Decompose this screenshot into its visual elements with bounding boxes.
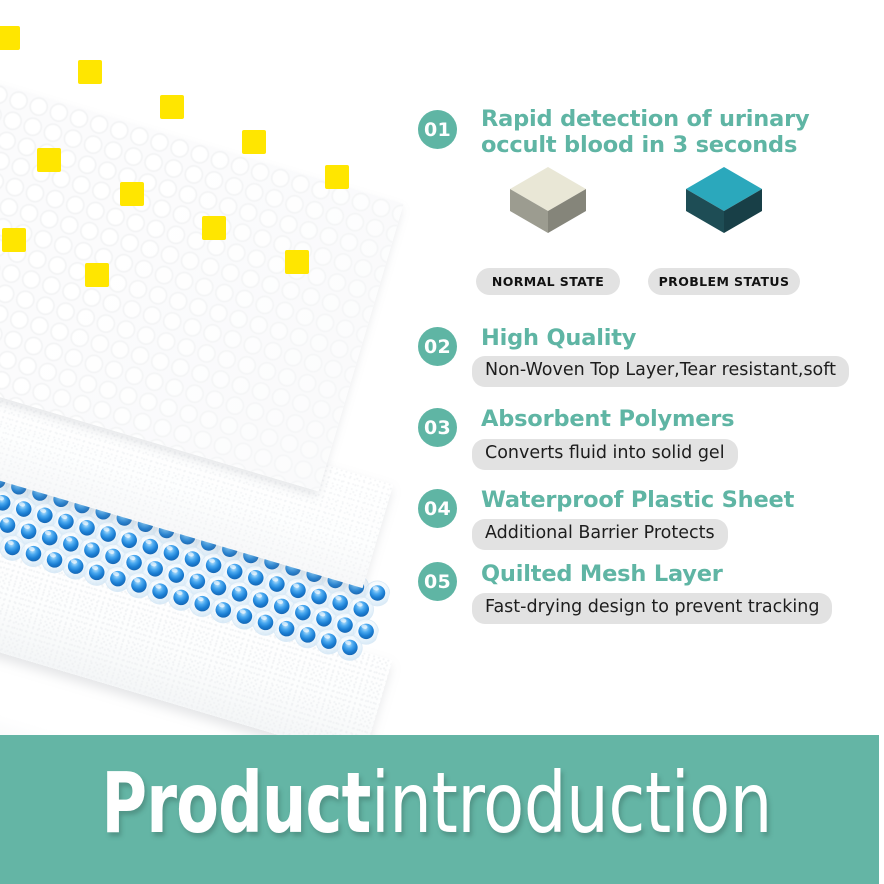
problem-status-cube: [682, 163, 766, 245]
feature-title-02: High Quality: [481, 325, 636, 351]
yellow-accent-square: [242, 130, 266, 154]
feature-desc-05: Fast-drying design to prevent tracking: [472, 593, 832, 624]
feature-title-03: Absorbent Polymers: [481, 406, 734, 432]
feature-number-03: 03: [418, 408, 457, 447]
normal-state-label: NORMAL STATE: [476, 268, 620, 295]
feature-number-04: 04: [418, 489, 457, 528]
yellow-accent-square: [0, 26, 20, 50]
feature-title-04: Waterproof Plastic Sheet: [481, 487, 794, 513]
yellow-accent-square: [325, 165, 349, 189]
yellow-accent-square: [37, 148, 61, 172]
yellow-accent-square: [2, 228, 26, 252]
feature-number-05: 05: [418, 562, 457, 601]
feature-number-02: 02: [418, 327, 457, 366]
banner-title-light: introduction: [371, 761, 772, 845]
feature-desc-03: Converts fluid into solid gel: [472, 439, 738, 470]
problem-status-label: PROBLEM STATUS: [648, 268, 800, 295]
yellow-accent-square: [285, 250, 309, 274]
banner-title: Productintroduction: [0, 761, 879, 845]
yellow-accent-square: [202, 216, 226, 240]
normal-state-cube: [506, 163, 590, 245]
infographic-page: 01 Rapid detection of urinary occult blo…: [0, 0, 884, 884]
normal-state-cube-svg: [506, 163, 590, 245]
yellow-accent-square: [85, 263, 109, 287]
feature-title-01: Rapid detection of urinary occult blood …: [481, 106, 881, 158]
problem-status-cube-svg: [682, 163, 766, 245]
features-column: 01 Rapid detection of urinary occult blo…: [416, 0, 884, 740]
yellow-accent-square: [120, 182, 144, 206]
feature-desc-02: Non-Woven Top Layer,Tear resistant,soft: [472, 356, 849, 387]
yellow-accent-square: [160, 95, 184, 119]
bottom-banner: Productintroduction: [0, 735, 879, 884]
banner-title-bold: Product: [102, 761, 371, 845]
feature-desc-04: Additional Barrier Protects: [472, 519, 728, 550]
yellow-accent-square: [78, 60, 102, 84]
feature-number-01: 01: [418, 110, 457, 149]
feature-title-05: Quilted Mesh Layer: [481, 561, 723, 587]
product-layer-illustration: [0, 0, 440, 740]
